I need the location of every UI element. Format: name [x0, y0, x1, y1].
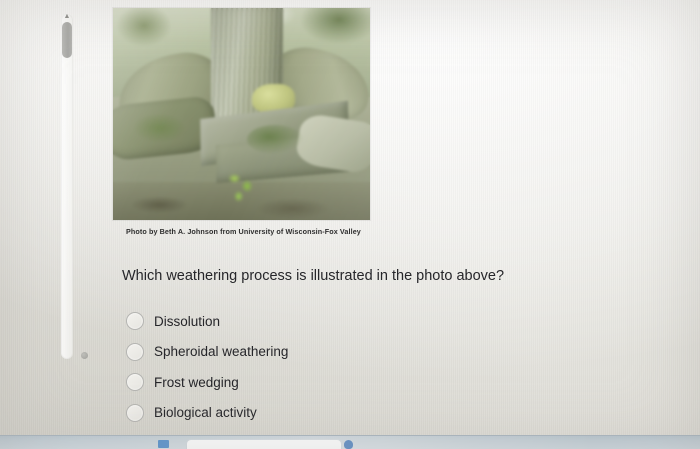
answer-option-label-3: Biological activity — [154, 405, 257, 420]
radio-button-3[interactable] — [126, 404, 144, 422]
question-photo — [113, 8, 370, 220]
answer-option-label-0: Dissolution — [154, 314, 220, 329]
answer-option-label-2: Frost wedging — [154, 375, 239, 390]
answer-option-label-1: Spheroidal weathering — [154, 344, 288, 359]
photo-caption: Photo by Beth A. Johnson from University… — [126, 227, 374, 236]
taskbar-glare — [0, 436, 700, 449]
radio-button-0[interactable] — [126, 312, 144, 330]
scrollbar-thumb[interactable] — [62, 22, 72, 58]
answer-option-1[interactable]: Spheroidal weathering — [126, 337, 546, 368]
answer-option-2[interactable]: Frost wedging — [126, 367, 546, 398]
answer-option-3[interactable]: Biological activity — [126, 398, 546, 429]
taskbar[interactable] — [0, 435, 700, 449]
photo-glare-overlay — [113, 8, 370, 220]
scroll-end-indicator-dot — [81, 352, 88, 359]
answer-option-0[interactable]: Dissolution — [126, 306, 546, 337]
question-prompt: Which weathering process is illustrated … — [122, 268, 504, 284]
answer-options-list: Dissolution Spheroidal weathering Frost … — [126, 306, 546, 428]
vertical-scrollbar[interactable]: ▲ — [61, 14, 73, 359]
scroll-up-arrow-icon[interactable]: ▲ — [62, 12, 72, 21]
radio-button-1[interactable] — [126, 343, 144, 361]
radio-button-2[interactable] — [126, 373, 144, 391]
